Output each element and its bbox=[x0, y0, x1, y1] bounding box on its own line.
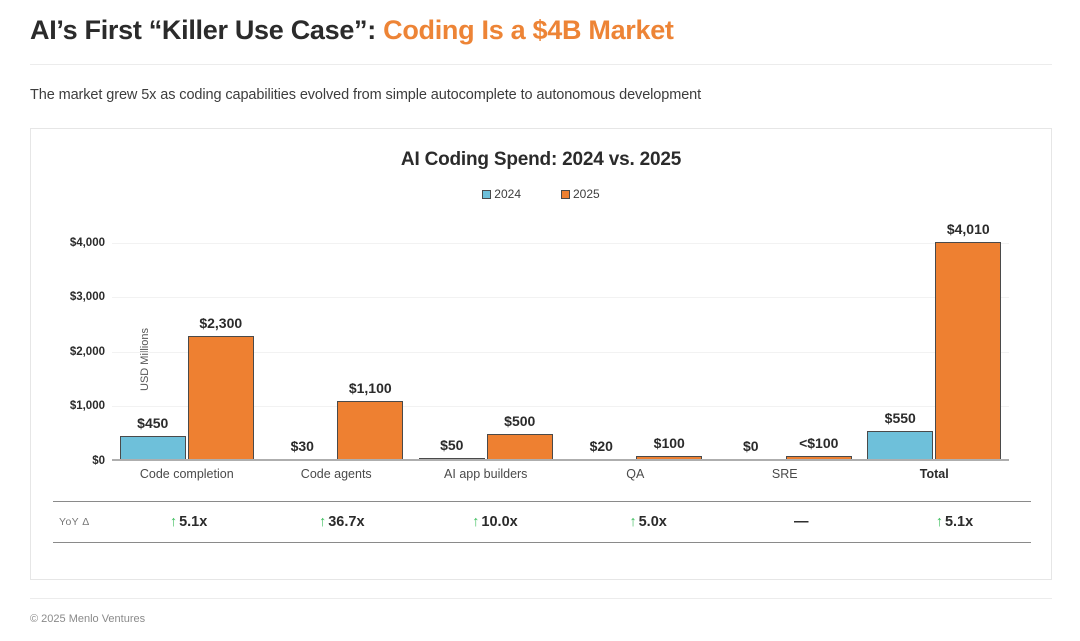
bar-column: $100 bbox=[636, 221, 702, 461]
x-axis-label: Code completion bbox=[112, 467, 262, 481]
yoy-value: — bbox=[725, 514, 878, 530]
legend-label-2025: 2025 bbox=[573, 187, 600, 201]
page-title-accent: Coding Is a $4B Market bbox=[376, 15, 674, 45]
legend-swatch-2024 bbox=[482, 190, 491, 199]
header-divider bbox=[30, 64, 1052, 65]
bar-column: $20 bbox=[568, 221, 634, 461]
y-axis-tick: $0 bbox=[92, 455, 105, 467]
yoy-row-label: YoY Δ bbox=[53, 516, 112, 528]
bar-column: $550 bbox=[867, 221, 933, 461]
arrow-up-icon: ↑ bbox=[319, 514, 326, 530]
legend-item-2025[interactable]: 2025 bbox=[561, 187, 600, 201]
bar-value-label: $4,010 bbox=[947, 221, 990, 237]
x-axis-labels: Code completionCode agentsAI app builder… bbox=[112, 467, 1009, 481]
bar-2025[interactable] bbox=[188, 336, 254, 461]
yoy-value: ↑5.0x bbox=[572, 514, 725, 530]
yoy-value: ↑5.1x bbox=[112, 514, 265, 530]
bar-value-label: $1,100 bbox=[349, 380, 392, 396]
chart-card: AI Coding Spend: 2024 vs. 2025 2024 2025… bbox=[30, 128, 1052, 580]
y-axis-tick: $4,000 bbox=[70, 237, 105, 249]
bar-column: $1,100 bbox=[337, 221, 403, 461]
bar-pair: $30$1,100 bbox=[262, 221, 412, 461]
y-axis-tick: $2,000 bbox=[70, 346, 105, 358]
x-axis-label: SRE bbox=[710, 467, 860, 481]
slide-root: AI’s First “Killer Use Case”: Coding Is … bbox=[0, 0, 1080, 641]
page-title-primary: AI’s First “Killer Use Case”: bbox=[30, 15, 376, 45]
yoy-value: ↑5.1x bbox=[878, 514, 1031, 530]
bar-pair: $0<$100 bbox=[710, 221, 860, 461]
bar-value-label: $20 bbox=[590, 438, 613, 454]
yoy-values: ↑5.1x↑36.7x↑10.0x↑5.0x—↑5.1x bbox=[112, 514, 1031, 530]
plot-area: USD Millions $0$1,000$2,000$3,000$4,000 … bbox=[112, 221, 1009, 461]
yoy-row: YoY Δ ↑5.1x↑36.7x↑10.0x↑5.0x—↑5.1x bbox=[53, 501, 1031, 543]
x-axis-label: Total bbox=[860, 467, 1010, 481]
bar-column: $30 bbox=[269, 221, 335, 461]
bar-pair: $550$4,010 bbox=[860, 221, 1010, 461]
arrow-up-icon: ↑ bbox=[170, 514, 177, 530]
bar-value-label: $30 bbox=[291, 438, 314, 454]
bar-groups: $450$2,300$30$1,100$50$500$20$100$0<$100… bbox=[112, 221, 1009, 461]
page-header: AI’s First “Killer Use Case”: Coding Is … bbox=[30, 14, 1050, 46]
bar-2025[interactable] bbox=[337, 401, 403, 461]
x-axis-label: QA bbox=[561, 467, 711, 481]
bar-2024[interactable] bbox=[120, 436, 186, 461]
arrow-up-icon: ↑ bbox=[472, 514, 479, 530]
chart-title: AI Coding Spend: 2024 vs. 2025 bbox=[31, 149, 1051, 171]
bar-value-label: <$100 bbox=[799, 435, 838, 451]
arrow-up-icon: ↑ bbox=[629, 514, 636, 530]
yoy-value: ↑10.0x bbox=[418, 514, 571, 530]
bar-column: $2,300 bbox=[188, 221, 254, 461]
bar-value-label: $550 bbox=[885, 410, 916, 426]
bar-value-label: $450 bbox=[137, 415, 168, 431]
legend-label-2024: 2024 bbox=[494, 187, 521, 201]
bar-column: $500 bbox=[487, 221, 553, 461]
x-axis-label: Code agents bbox=[262, 467, 412, 481]
page-subtitle: The market grew 5x as coding capabilitie… bbox=[30, 87, 701, 103]
footer-copyright: © 2025 Menlo Ventures bbox=[30, 613, 145, 625]
x-axis-line bbox=[112, 459, 1009, 461]
bar-value-label: $500 bbox=[504, 413, 535, 429]
bar-group: $450$2,300 bbox=[112, 221, 262, 461]
bar-2024[interactable] bbox=[867, 431, 933, 461]
yoy-value: ↑36.7x bbox=[265, 514, 418, 530]
legend-swatch-2025 bbox=[561, 190, 570, 199]
bar-group: $550$4,010 bbox=[860, 221, 1010, 461]
bar-value-label: $100 bbox=[654, 435, 685, 451]
bar-value-label: $2,300 bbox=[199, 315, 242, 331]
bar-group: $50$500 bbox=[411, 221, 561, 461]
chart-legend: 2024 2025 bbox=[31, 187, 1051, 201]
bar-group: $0<$100 bbox=[710, 221, 860, 461]
legend-item-2024[interactable]: 2024 bbox=[482, 187, 521, 201]
footer-divider bbox=[30, 598, 1052, 599]
bar-column: $450 bbox=[120, 221, 186, 461]
bar-column: $50 bbox=[419, 221, 485, 461]
arrow-up-icon: ↑ bbox=[936, 514, 943, 530]
bar-pair: $450$2,300 bbox=[112, 221, 262, 461]
bar-group: $30$1,100 bbox=[262, 221, 412, 461]
bar-column: $0 bbox=[718, 221, 784, 461]
page-title: AI’s First “Killer Use Case”: Coding Is … bbox=[30, 14, 1050, 46]
bar-column: <$100 bbox=[786, 221, 852, 461]
y-axis-tick: $1,000 bbox=[70, 400, 105, 412]
bar-column: $4,010 bbox=[935, 221, 1001, 461]
x-axis-label: AI app builders bbox=[411, 467, 561, 481]
y-axis-tick: $3,000 bbox=[70, 291, 105, 303]
bar-pair: $50$500 bbox=[411, 221, 561, 461]
bar-value-label: $0 bbox=[743, 438, 759, 454]
bar-value-label: $50 bbox=[440, 437, 463, 453]
bar-pair: $20$100 bbox=[561, 221, 711, 461]
bar-2025[interactable] bbox=[935, 242, 1001, 461]
bar-group: $20$100 bbox=[561, 221, 711, 461]
bar-2025[interactable] bbox=[487, 434, 553, 461]
